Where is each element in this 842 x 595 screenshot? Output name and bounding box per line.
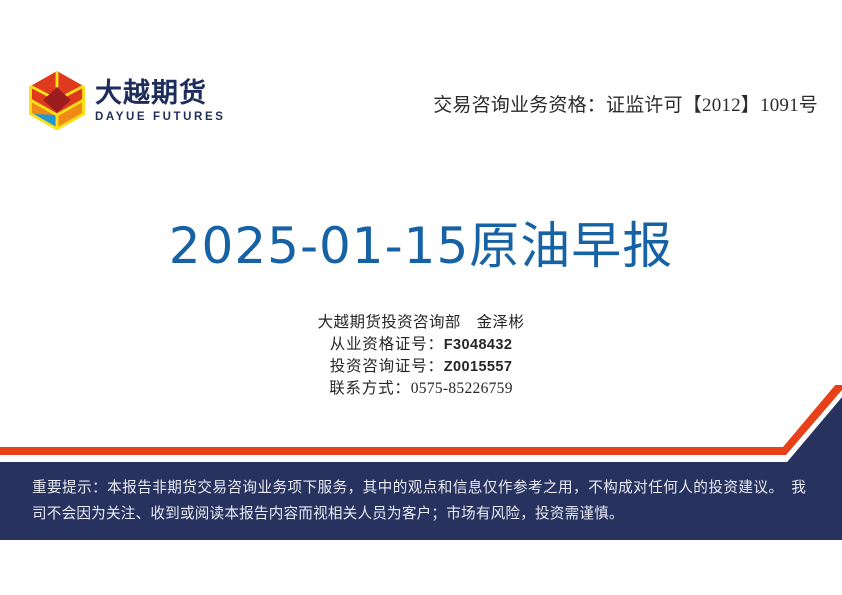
- dayue-hexagon-logo-icon: [28, 70, 86, 130]
- practice-certificate-label: 从业资格证号：: [330, 336, 444, 353]
- company-logo: 大越期货 DAYUE FUTURES: [28, 70, 226, 130]
- license-statement: 交易咨询业务资格：证监许可【2012】1091号: [433, 90, 818, 117]
- practice-certificate-value: F3048432: [444, 337, 513, 353]
- consulting-certificate-value: Z0015557: [444, 359, 513, 375]
- company-name-en: DAYUE FUTURES: [95, 111, 226, 123]
- consulting-certificate-label: 投资咨询证号：: [330, 358, 444, 375]
- consulting-certificate-line: 投资咨询证号：Z0015557: [0, 356, 842, 378]
- company-wordmark: 大越期货 DAYUE FUTURES: [95, 78, 226, 123]
- practice-certificate-line: 从业资格证号：F3048432: [0, 334, 842, 356]
- department-line: 大越期货投资咨询部 金泽彬: [0, 312, 842, 334]
- important-notice: 重要提示：本报告非期货交易咨询业务项下服务，其中的观点和信息仅作参考之用，不构成…: [0, 463, 842, 537]
- page-header: 大越期货 DAYUE FUTURES 交易咨询业务资格：证监许可【2012】10…: [0, 0, 842, 165]
- page-title: 2025-01-15原油早报: [0, 206, 842, 278]
- company-name-cn: 大越期货: [95, 80, 226, 107]
- report-cover-page: 大越期货 DAYUE FUTURES 交易咨询业务资格：证监许可【2012】10…: [0, 0, 842, 595]
